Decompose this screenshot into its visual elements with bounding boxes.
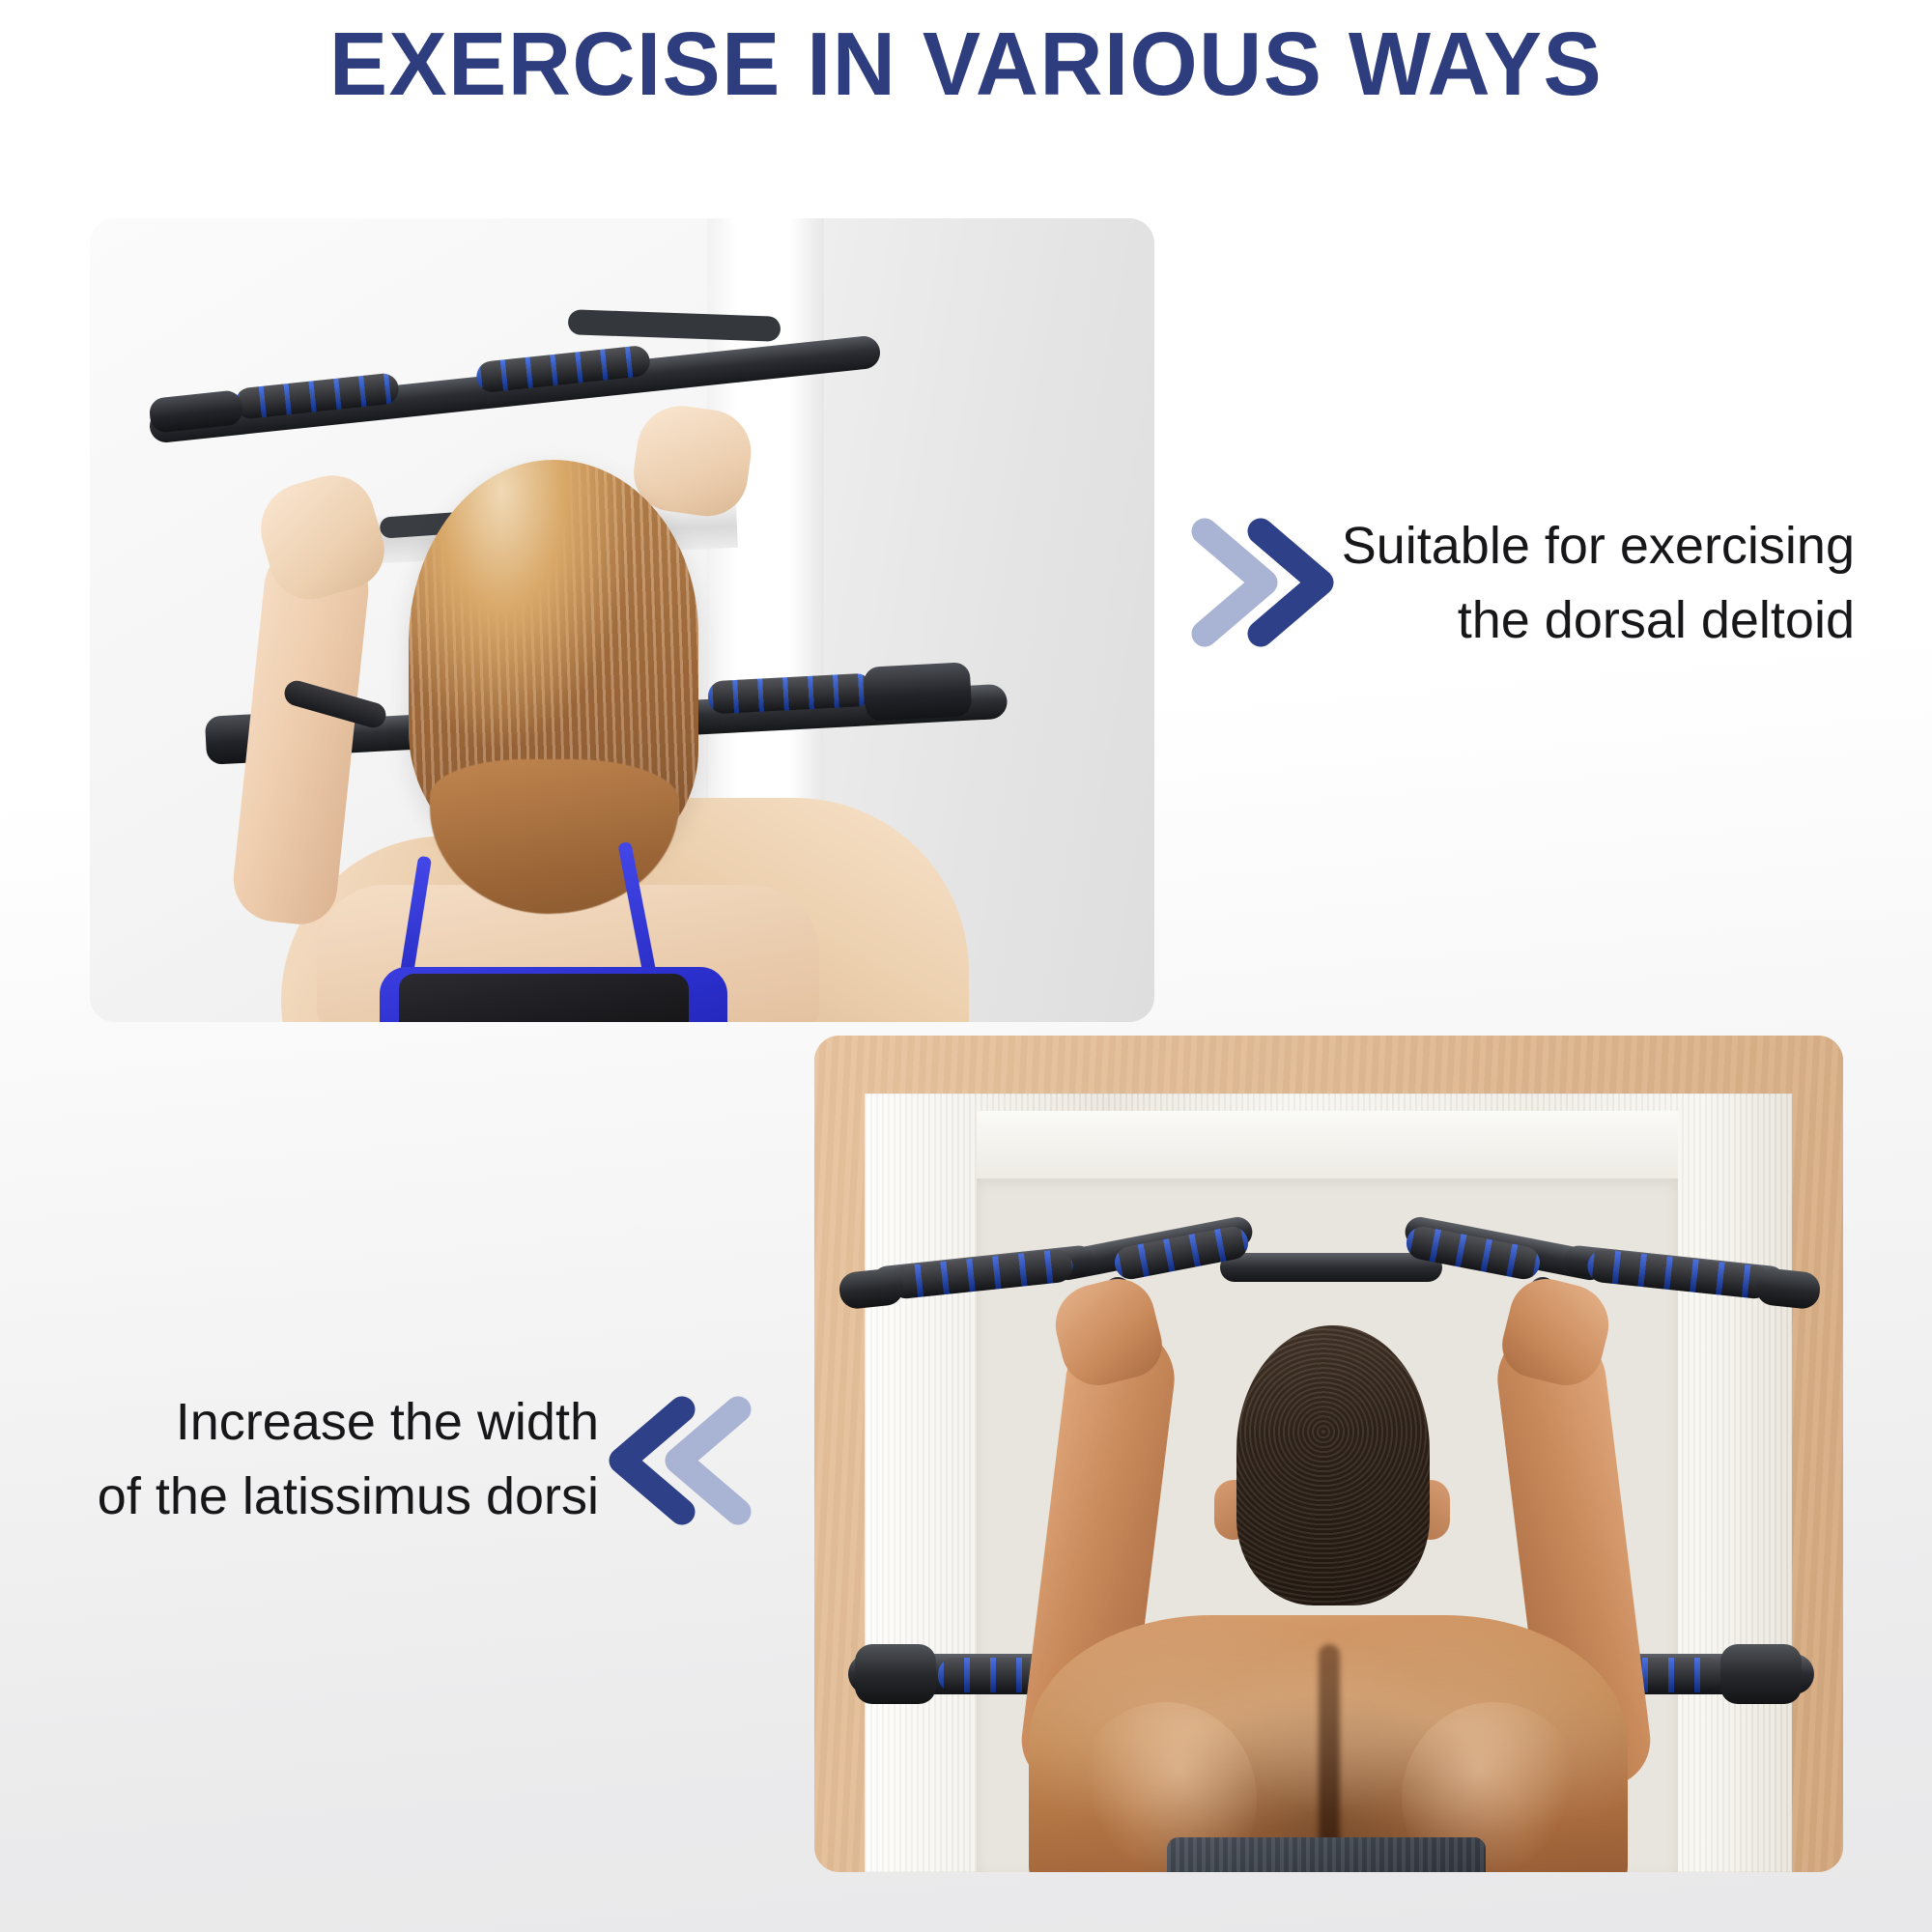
bar-end-cap: [864, 662, 973, 722]
person-leggings: [399, 974, 689, 1022]
bar-end-cap: [855, 1644, 936, 1704]
man-pullup-photo: [814, 1036, 1843, 1872]
product-feature-page: EXERCISE IN VARIOUS WAYS: [0, 0, 1932, 1932]
photo-door-header-panel: [977, 1111, 1678, 1179]
feature-caption-dorsal-deltoid: Suitable for exercising the dorsal delto…: [1314, 509, 1855, 657]
chevron-left-light: [678, 1409, 738, 1512]
page-title: EXERCISE IN VARIOUS WAYS: [29, 17, 1903, 112]
person-shorts: [1167, 1837, 1486, 1872]
bar-end-cap: [1720, 1644, 1802, 1704]
feature-caption-latissimus-dorsi: Increase the width of the latissimus dor…: [58, 1385, 599, 1533]
pullup-bar-center-section: [1220, 1253, 1442, 1282]
person-head: [1236, 1325, 1430, 1605]
double-chevron-left-icon: [607, 1388, 752, 1533]
chevron-right-light: [1205, 531, 1264, 634]
woman-pullup-photo: [90, 218, 1154, 1022]
